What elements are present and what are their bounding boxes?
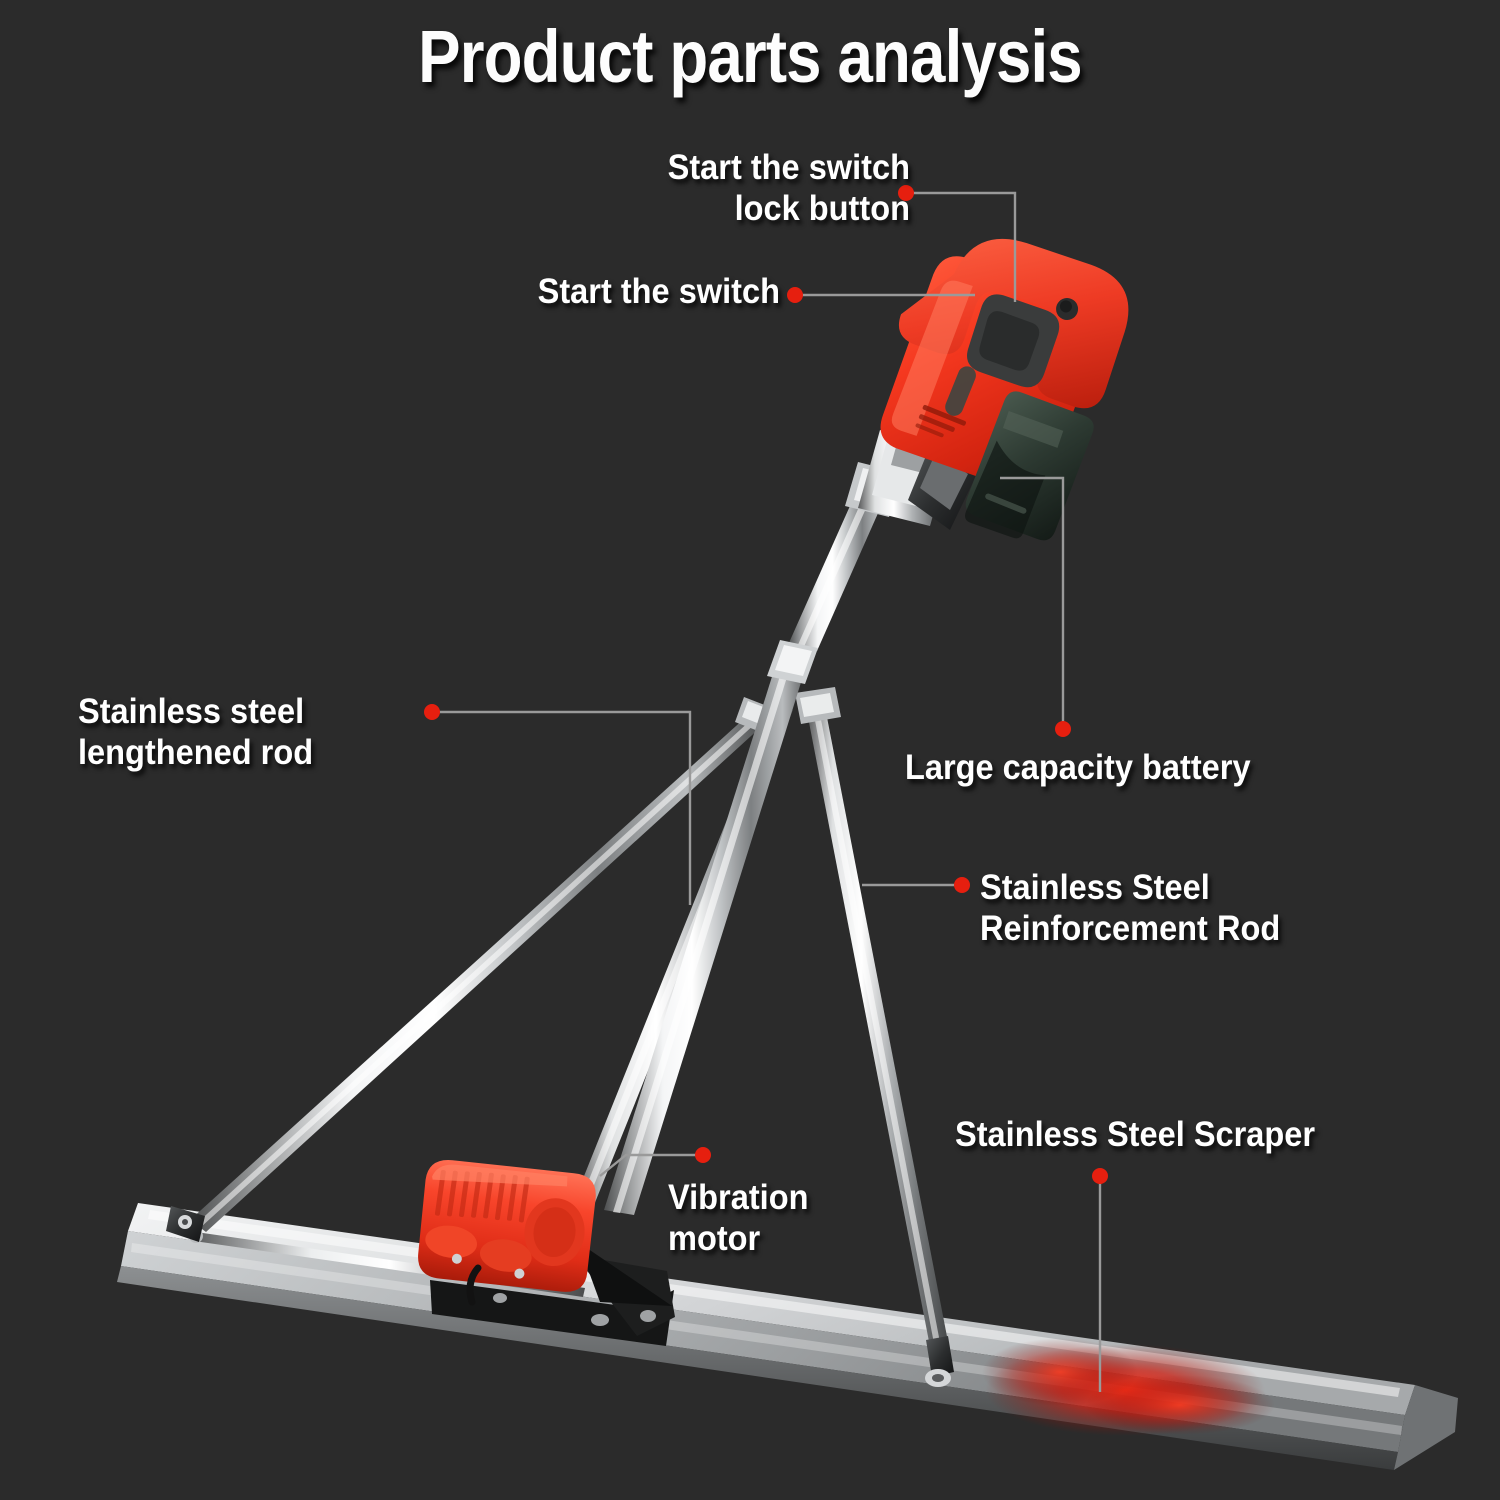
dot-vibration-motor [695, 1147, 711, 1163]
callout-label-stainless-steel-reinforcement-rod: Stainless Steel Reinforcement Rod [980, 868, 1417, 949]
dot-start-switch [787, 287, 803, 303]
callout-label-stainless-steel-lengthened-rod: Stainless steel lengthened rod [78, 692, 469, 773]
leader-lengthened-rod [432, 712, 690, 905]
leader-large-capacity-battery [1000, 478, 1063, 729]
dot-scraper [1092, 1168, 1108, 1184]
dot-reinforcement-rod [954, 877, 970, 893]
product-parts-analysis-diagram: Product parts analysis Start the switch … [0, 0, 1500, 1500]
leader-start-switch-lock-button [906, 193, 1015, 302]
page-title: Product parts analysis [105, 14, 1395, 99]
dot-large-capacity-battery [1055, 721, 1071, 737]
leader-vibration-motor [600, 1155, 703, 1176]
callout-label-stainless-steel-scraper: Stainless Steel Scraper [955, 1115, 1448, 1156]
callout-label-start-switch: Start the switch [427, 272, 780, 313]
callout-label-start-switch-lock-button: Start the switch lock button [566, 148, 910, 229]
callout-label-large-capacity-battery: Large capacity battery [905, 748, 1389, 789]
callout-label-vibration-motor: Vibration motor [668, 1178, 910, 1259]
callout-dots [424, 185, 1108, 1184]
